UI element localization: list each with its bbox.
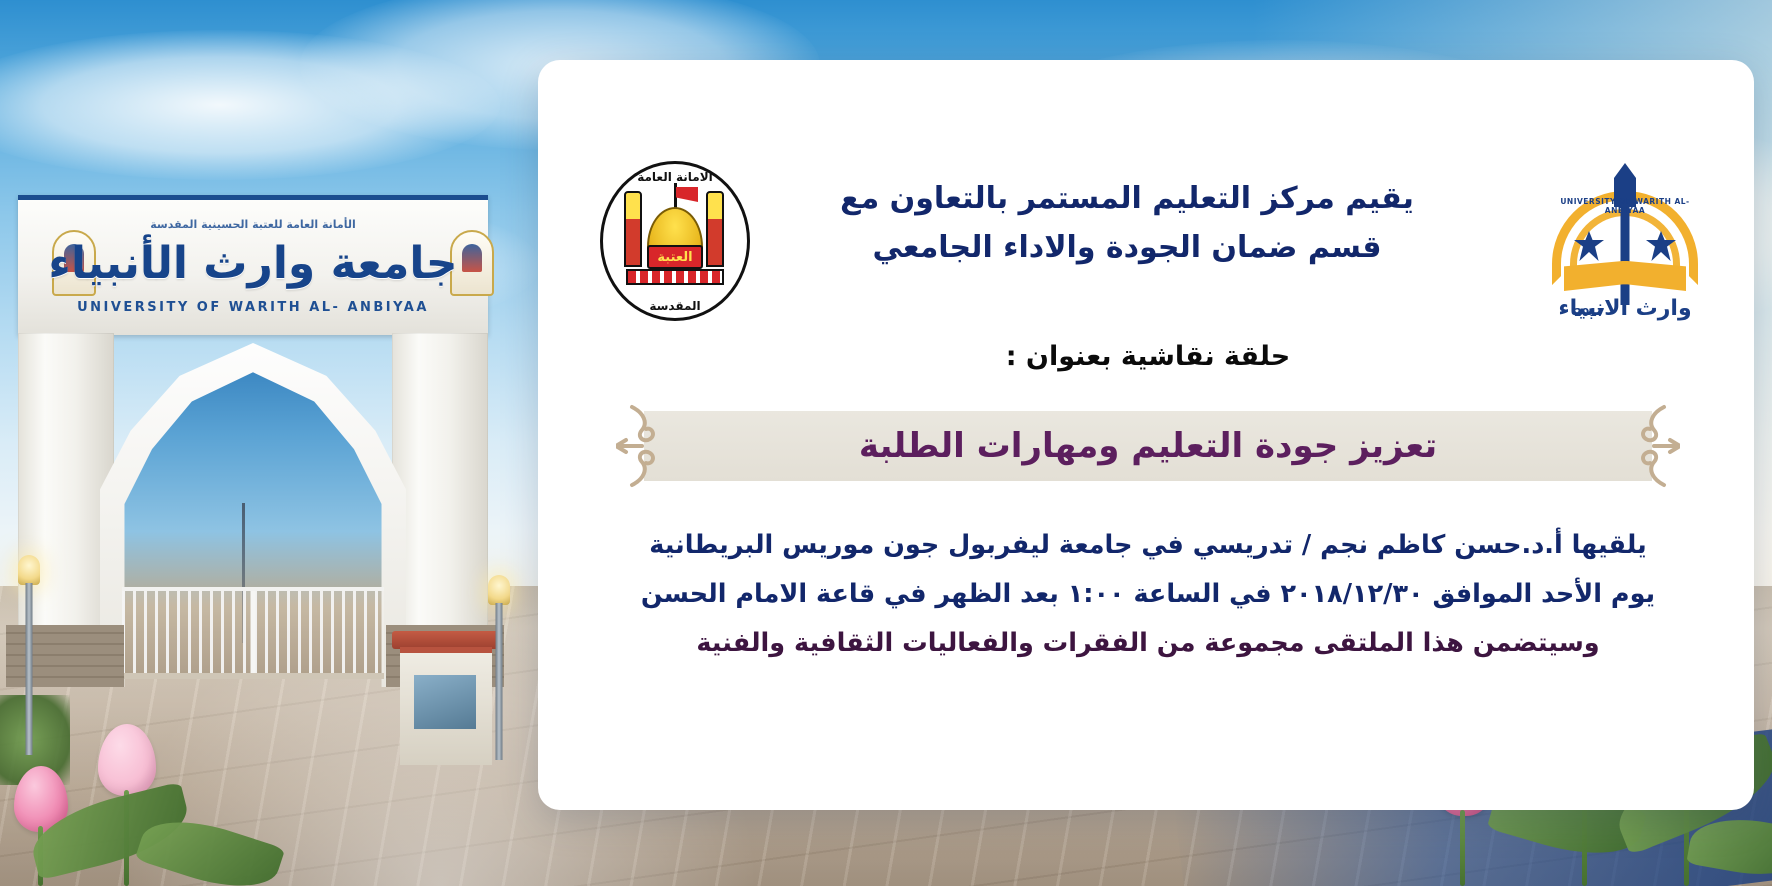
seminar-subtitle: حلقة نقاشية بعنوان : [578,341,1718,372]
lamp-pole [496,603,503,760]
gate-fence [122,587,384,679]
seal-top-text: الامانة العامة [600,170,750,184]
lamp-pole [26,583,33,755]
crest-english-text: UNIVERSITY OF WARITH AL-ANBIYAA [1544,197,1706,215]
seminar-title-banner: تعزيز جودة التعليم ومهارات الطلبة [644,411,1652,481]
crest-year-text: 2017 [1574,306,1605,319]
details-line-datetime-venue: يوم الأحد الموافق ٢٠١٨/١٢/٣٠ في الساعة ١… [578,570,1718,619]
al-ataba-seal-icon: الامانة العامة العتبة المقدسة [600,161,750,321]
crest-spine [1621,201,1630,305]
crest-arabic-text: وارث الانبياء [1544,296,1706,321]
seal-minaret-left-icon [624,191,642,267]
lamp-head-icon [18,555,40,585]
details-line-speaker: يلقيها أ.د.حسن كاظم نجم / تدريسي في جامع… [578,521,1718,570]
card-header: الامانة العامة العتبة المقدسة يقيم مركز … [578,151,1718,321]
university-gate: الأمانة العامة للعتبة الحسينية المقدسة ج… [0,195,520,675]
header-title-line-1: يقيم مركز التعليم المستمر بالتعاون مع [768,175,1486,224]
lamp-head-icon [488,575,510,605]
university-crest-icon: UNIVERSITY OF WARITH AL-ANBIYAA وارث الا… [1544,157,1706,325]
lamp-post [484,575,514,760]
details-line-activities: وسيتضمن هذا الملتقى مجموعة من الفقرات وا… [578,619,1718,668]
gate-sign-english-text: UNIVERSITY OF WARITH AL- ANBIYAA [18,300,488,315]
seminar-title-text: تعزيز جودة التعليم ومهارات الطلبة [859,426,1437,466]
poster-stage: الأمانة العامة للعتبة الحسينية المقدسة ج… [0,0,1772,886]
seal-center-text: العتبة [647,245,703,269]
gate-sign-subtext: الأمانة العامة للعتبة الحسينية المقدسة [18,218,488,231]
guard-kiosk [400,647,492,765]
seminar-details: يلقيها أ.د.حسن كاظم نجم / تدريسي في جامع… [578,521,1718,668]
header-title-line-2: قسم ضمان الجودة والاداء الجامعي [768,224,1486,273]
gate-signboard: الأمانة العامة للعتبة الحسينية المقدسة ج… [18,195,488,335]
header-title: يقيم مركز التعليم المستمر بالتعاون مع قس… [768,175,1486,272]
arabesque-ornament-right-icon [1624,403,1680,489]
gate-pylon-right [392,333,488,675]
gate-sign-main-text: جامعة وارث الأنبياء [18,238,488,289]
tulip-stem [1460,810,1465,886]
seal-minaret-right-icon [706,191,724,267]
seal-base [626,269,724,285]
announcement-card: الامانة العامة العتبة المقدسة يقيم مركز … [578,103,1718,775]
arabesque-ornament-left-icon [616,403,672,489]
lamp-post [14,555,44,755]
tulip-bloom [98,724,156,796]
seal-bottom-text: المقدسة [600,299,750,313]
